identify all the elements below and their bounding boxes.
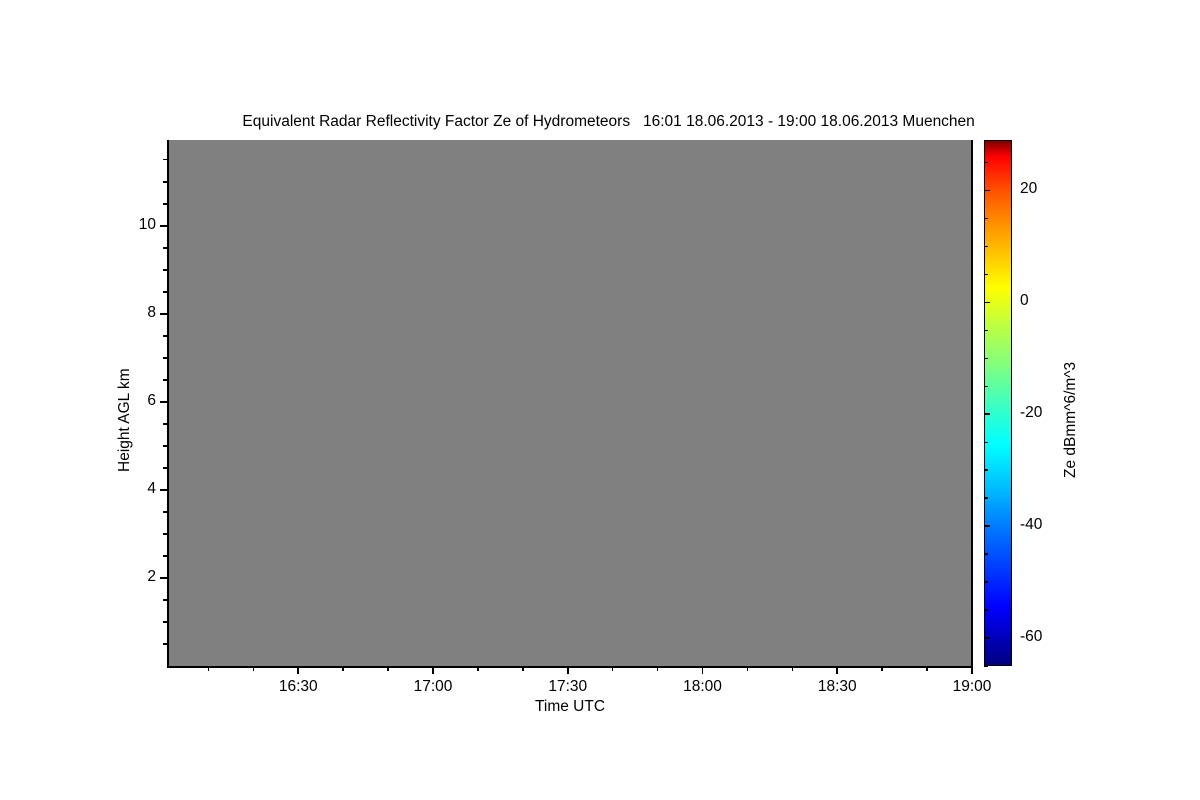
colorbar-tick-minor xyxy=(984,386,988,387)
y-tick-minor xyxy=(163,555,168,556)
colorbar-tick-minor xyxy=(984,497,988,498)
colorbar-tick--60 xyxy=(984,637,990,639)
colorbar-tick-minor xyxy=(984,246,988,247)
y-tick-label-2: 2 xyxy=(110,568,156,586)
colorbar-tick-minor xyxy=(984,469,988,470)
colorbar-tick-label-0: 0 xyxy=(1020,292,1029,310)
axis-line-bottom xyxy=(167,666,973,668)
x-tick-18-30 xyxy=(836,666,838,674)
reflectivity-heatmap-canvas xyxy=(168,140,972,666)
y-tick-label-10: 10 xyxy=(110,216,156,234)
y-tick-minor xyxy=(163,203,168,204)
y-tick-8 xyxy=(160,313,168,315)
y-tick-minor xyxy=(163,159,168,160)
x-tick-19-00 xyxy=(971,666,973,674)
x-tick-minor xyxy=(342,666,343,671)
x-tick-minor xyxy=(747,666,748,671)
x-tick-minor xyxy=(657,666,658,671)
y-tick-2 xyxy=(160,577,168,579)
x-tick-16-30 xyxy=(297,666,299,674)
colorbar-tick-0 xyxy=(984,302,990,304)
y-tick-minor xyxy=(163,357,168,358)
x-axis-label: Time UTC xyxy=(168,698,972,716)
colorbar-tick-label--60: -60 xyxy=(1020,628,1042,646)
colorbar-tick--20 xyxy=(984,413,990,415)
colorbar-tick--40 xyxy=(984,525,990,527)
colorbar-label: Ze dBmm^6/m^3 xyxy=(1062,362,1080,478)
colorbar-tick-minor xyxy=(984,442,988,443)
axis-line-right xyxy=(971,140,973,667)
y-tick-10 xyxy=(160,225,168,227)
y-tick-minor xyxy=(163,643,168,644)
radar-reflectivity-figure: Equivalent Radar Reflectivity Factor Ze … xyxy=(0,0,1200,800)
colorbar-tick-minor xyxy=(984,274,988,275)
colorbar-tick-label--40: -40 xyxy=(1020,516,1042,534)
x-tick-minor xyxy=(522,666,523,671)
colorbar-tick-minor xyxy=(984,218,988,219)
colorbar xyxy=(984,140,1012,666)
figure-title-text: Equivalent Radar Reflectivity Factor Ze … xyxy=(242,113,974,130)
y-tick-minor xyxy=(163,467,168,468)
y-tick-minor xyxy=(163,379,168,380)
colorbar-tick-minor xyxy=(984,581,988,582)
y-tick-minor xyxy=(163,335,168,336)
colorbar-tick-minor xyxy=(984,162,988,163)
x-tick-minor xyxy=(926,666,927,671)
x-tick-label-18-30: 18:30 xyxy=(792,678,882,696)
x-tick-minor xyxy=(208,666,209,671)
y-tick-minor xyxy=(163,269,168,270)
y-tick-minor xyxy=(163,599,168,600)
x-tick-label-19-00: 19:00 xyxy=(927,678,1017,696)
colorbar-tick-minor xyxy=(984,358,988,359)
x-tick-18-00 xyxy=(702,666,704,674)
colorbar-tick-minor xyxy=(984,665,988,666)
x-tick-minor xyxy=(253,666,254,671)
x-tick-minor xyxy=(477,666,478,671)
x-tick-17-00 xyxy=(432,666,434,674)
x-tick-minor xyxy=(881,666,882,671)
y-tick-minor xyxy=(163,291,168,292)
colorbar-tick-minor xyxy=(984,609,988,610)
y-tick-minor xyxy=(163,423,168,424)
y-tick-label-4: 4 xyxy=(110,480,156,498)
x-tick-label-16-30: 16:30 xyxy=(253,678,343,696)
y-tick-label-8: 8 xyxy=(110,304,156,322)
axis-line-left xyxy=(167,140,169,667)
y-axis-label: Height AGL km xyxy=(116,368,134,472)
y-tick-minor xyxy=(163,247,168,248)
x-tick-minor xyxy=(612,666,613,671)
colorbar-tick-minor xyxy=(984,330,988,331)
x-tick-17-30 xyxy=(567,666,569,674)
y-tick-minor xyxy=(163,511,168,512)
x-tick-minor xyxy=(792,666,793,671)
plot-area xyxy=(168,140,972,666)
colorbar-gradient xyxy=(984,140,1012,666)
y-tick-minor xyxy=(163,445,168,446)
x-tick-label-17-30: 17:30 xyxy=(523,678,613,696)
y-tick-6 xyxy=(160,401,168,403)
y-tick-minor xyxy=(163,181,168,182)
y-tick-minor xyxy=(163,621,168,622)
x-tick-label-17-00: 17:00 xyxy=(388,678,478,696)
colorbar-tick-minor xyxy=(984,553,988,554)
x-tick-minor xyxy=(387,666,388,671)
y-tick-4 xyxy=(160,489,168,491)
colorbar-tick-20 xyxy=(984,190,990,192)
colorbar-tick-label-20: 20 xyxy=(1020,180,1037,198)
colorbar-tick-label--20: -20 xyxy=(1020,404,1042,422)
x-tick-label-18-00: 18:00 xyxy=(657,678,747,696)
y-tick-minor xyxy=(163,533,168,534)
